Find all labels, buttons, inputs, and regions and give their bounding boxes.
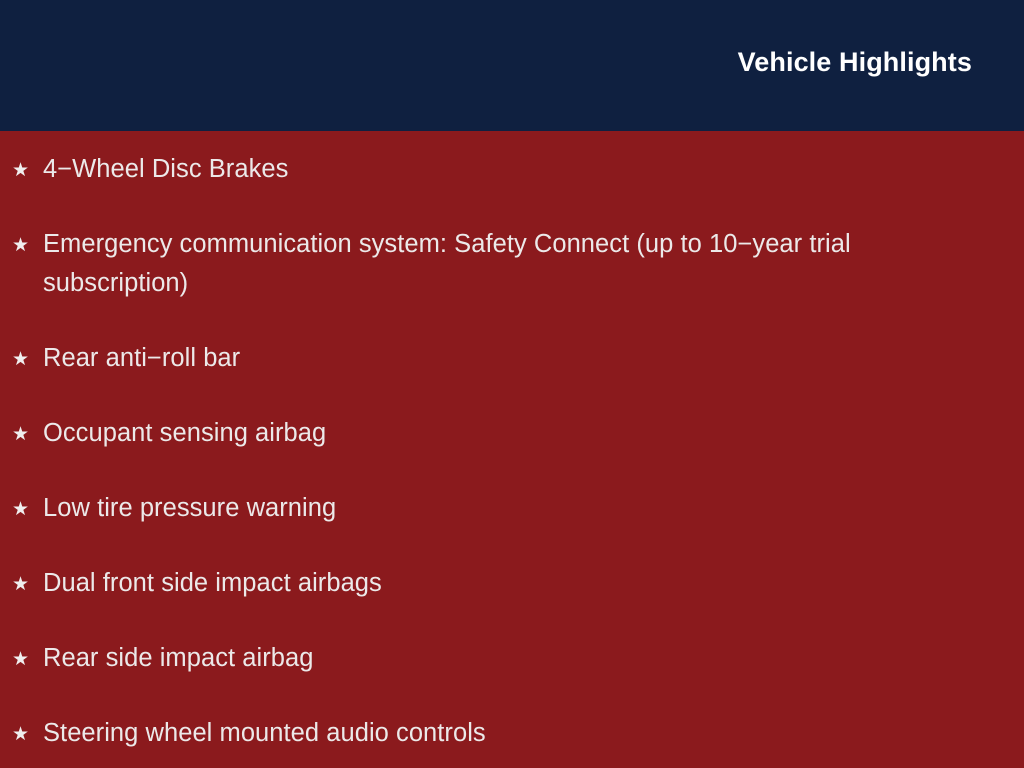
list-item-label: Occupant sensing airbag [43, 414, 948, 453]
list-item: ★ 4−Wheel Disc Brakes [0, 150, 1024, 189]
star-bullet-icon: ★ [12, 226, 34, 265]
list-item-label: 4−Wheel Disc Brakes [43, 150, 948, 189]
star-bullet-icon: ★ [12, 640, 34, 679]
page-title: Vehicle Highlights [738, 47, 972, 78]
star-bullet-icon: ★ [12, 340, 34, 379]
vehicle-highlights-list: ★ 4−Wheel Disc Brakes ★ Emergency commun… [0, 131, 1024, 768]
list-item: ★ Emergency communication system: Safety… [0, 225, 1024, 303]
list-item-label: Low tire pressure warning [43, 489, 948, 528]
list-item-label: Steering wheel mounted audio controls [43, 714, 948, 753]
list-item-label: Rear anti−roll bar [43, 339, 948, 378]
list-item: ★ Occupant sensing airbag [0, 414, 1024, 453]
star-bullet-icon: ★ [12, 715, 34, 754]
list-item: ★ Dual front side impact airbags [0, 564, 1024, 603]
star-bullet-icon: ★ [12, 415, 34, 454]
star-bullet-icon: ★ [12, 151, 34, 190]
list-item-label: Dual front side impact airbags [43, 564, 948, 603]
list-item: ★ Steering wheel mounted audio controls [0, 714, 1024, 753]
star-bullet-icon: ★ [12, 565, 34, 604]
list-item: ★ Rear anti−roll bar [0, 339, 1024, 378]
list-item-label: Rear side impact airbag [43, 639, 948, 678]
vehicle-highlights-slide: Vehicle Highlights ★ 4−Wheel Disc Brakes… [0, 0, 1024, 768]
list-item: ★ Rear side impact airbag [0, 639, 1024, 678]
star-bullet-icon: ★ [12, 490, 34, 529]
list-item-label: Emergency communication system: Safety C… [43, 225, 948, 303]
slide-header-bar: Vehicle Highlights [0, 0, 1024, 131]
list-item: ★ Low tire pressure warning [0, 489, 1024, 528]
